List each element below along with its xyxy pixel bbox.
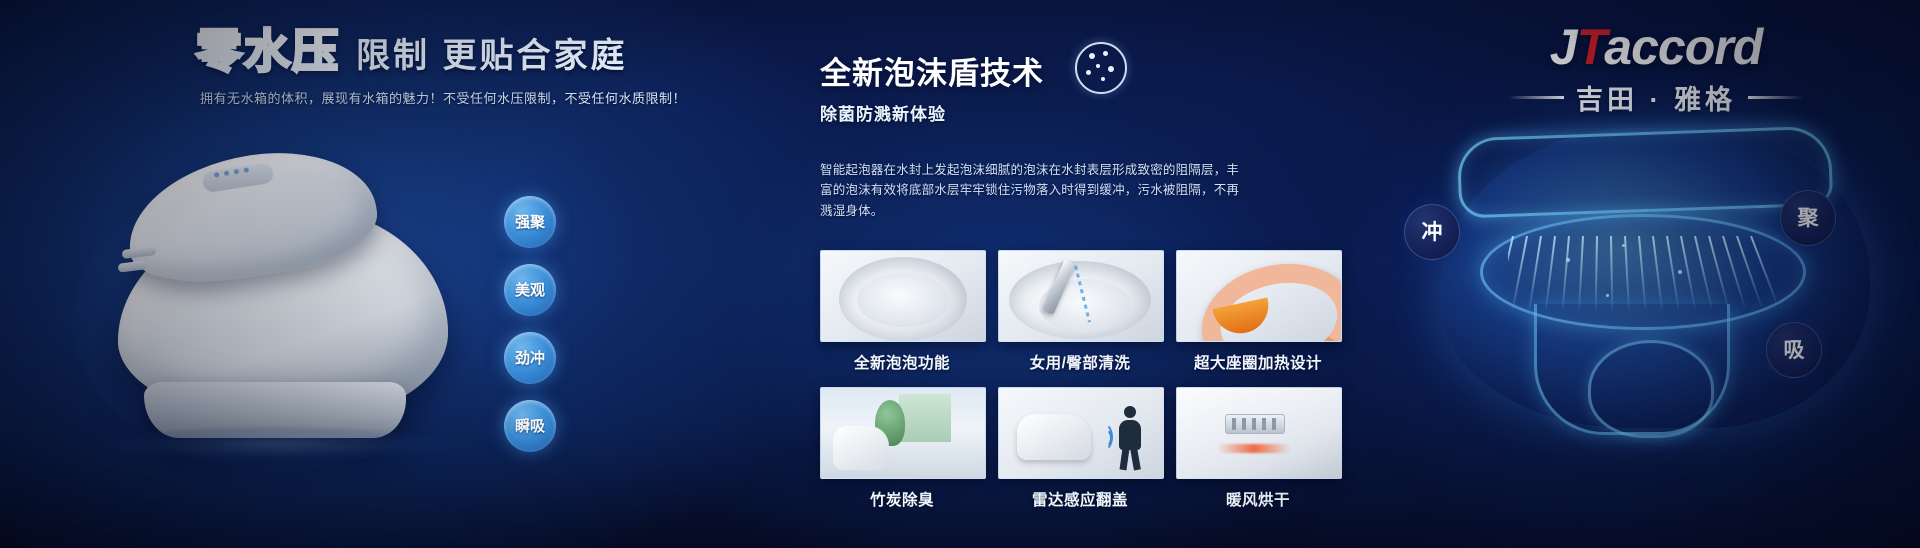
logo-letter-t: T xyxy=(1577,19,1605,75)
feature-cell-radar-lid[interactable]: 雷达感应翻盖 xyxy=(998,387,1162,510)
toilet-bowl-foam-icon xyxy=(820,250,986,342)
left-headline: 零水压 限制 更贴合家庭 xyxy=(196,28,627,74)
feature-row-2: 竹炭除臭 雷达感应翻盖 xyxy=(820,387,1340,510)
headline-keyword: 零水压 xyxy=(196,28,340,74)
toilet-side-button-2 xyxy=(118,260,147,272)
logo-letter-j: J xyxy=(1550,19,1577,75)
toilet-xray-flush-diagram: 冲 聚 吸 xyxy=(1416,118,1886,448)
suction-badge-icon[interactable]: 吸 xyxy=(1766,322,1822,378)
foam-bubbles-icon xyxy=(1075,42,1127,94)
feature-cell-deodorize[interactable]: 竹炭除臭 xyxy=(820,387,984,510)
feature-cell-foam[interactable]: 全新泡泡功能 xyxy=(820,250,984,373)
feature-row-1: 全新泡泡功能 女用/臀部清洗 超大座圈加热设计 xyxy=(820,250,1340,373)
feature-caption: 暖风烘干 xyxy=(1176,488,1340,510)
middle-body-text: 智能起泡器在水封上发起泡沫细腻的泡沫在水封表层形成致密的阻隔层，丰富的泡沫有效将… xyxy=(820,160,1240,221)
toilet-floor-shadow xyxy=(102,426,452,462)
radar-sensor-lid-icon xyxy=(998,387,1164,479)
middle-subtitle: 除菌防溅新体验 xyxy=(820,100,946,125)
feature-grid: 全新泡泡功能 女用/臀部清洗 超大座圈加热设计 xyxy=(820,250,1340,510)
feature-caption: 女用/臀部清洗 xyxy=(998,351,1162,373)
gather-badge-icon[interactable]: 聚 xyxy=(1780,190,1836,246)
feature-cell-warm-dryer[interactable]: 暖风烘干 xyxy=(1176,387,1340,510)
flush-badge-icon[interactable]: 冲 xyxy=(1404,204,1460,260)
logo-chinese-name: 吉田 · 雅格 xyxy=(1576,78,1736,117)
badge-jingchong[interactable]: 劲冲 xyxy=(504,332,556,384)
feature-caption: 雷达感应翻盖 xyxy=(998,488,1162,510)
feature-caption: 超大座圈加热设计 xyxy=(1176,351,1340,373)
brand-logo[interactable]: JTaccord 吉田 · 雅格 xyxy=(1446,22,1866,117)
left-badge-column: 强聚 美观 劲冲 瞬吸 xyxy=(504,196,556,452)
promo-banner: 零水压 限制 更贴合家庭 拥有无水箱的体积，展现有水箱的魅力！不受任何水压限制，… xyxy=(0,0,1920,548)
logo-rule-right xyxy=(1748,96,1804,99)
headline-rest: 限制 更贴合家庭 xyxy=(356,39,627,73)
middle-title: 全新泡沫盾技术 xyxy=(820,48,1044,93)
badge-qiangju[interactable]: 强聚 xyxy=(504,196,556,248)
badge-shunxi[interactable]: 瞬吸 xyxy=(504,400,556,452)
smart-toilet-illustration xyxy=(92,130,472,450)
right-panel: JTaccord 吉田 · 雅格 xyxy=(1380,0,1920,548)
feature-cell-heated-seat[interactable]: 超大座圈加热设计 xyxy=(1176,250,1340,373)
badge-meiguan[interactable]: 美观 xyxy=(504,264,556,316)
nozzle-spray-icon xyxy=(998,250,1164,342)
warm-air-dryer-icon xyxy=(1176,387,1342,479)
left-subtitle: 拥有无水箱的体积，展现有水箱的魅力！不受任何水压限制，不受任何水质限制！ xyxy=(200,88,686,107)
left-panel: 零水压 限制 更贴合家庭 拥有无水箱的体积，展现有水箱的魅力！不受任何水压限制，… xyxy=(0,0,640,548)
bamboo-charcoal-deodorizer-icon xyxy=(820,387,986,479)
logo-chinese-row: 吉田 · 雅格 xyxy=(1446,78,1866,117)
feature-cell-wash[interactable]: 女用/臀部清洗 xyxy=(998,250,1162,373)
middle-panel: 全新泡沫盾技术 除菌防溅新体验 智能起泡器在水封上发起泡沫细腻的泡沫在水封表层形… xyxy=(820,0,1380,548)
radar-wave-icon xyxy=(1091,418,1113,452)
feature-caption: 全新泡泡功能 xyxy=(820,351,984,373)
logo-rule-left xyxy=(1508,96,1564,99)
logo-word-accord: accord xyxy=(1604,19,1762,75)
feature-caption: 竹炭除臭 xyxy=(820,488,984,510)
logo-wordmark: JTaccord xyxy=(1446,22,1866,72)
heated-seat-ring-icon xyxy=(1176,250,1342,342)
